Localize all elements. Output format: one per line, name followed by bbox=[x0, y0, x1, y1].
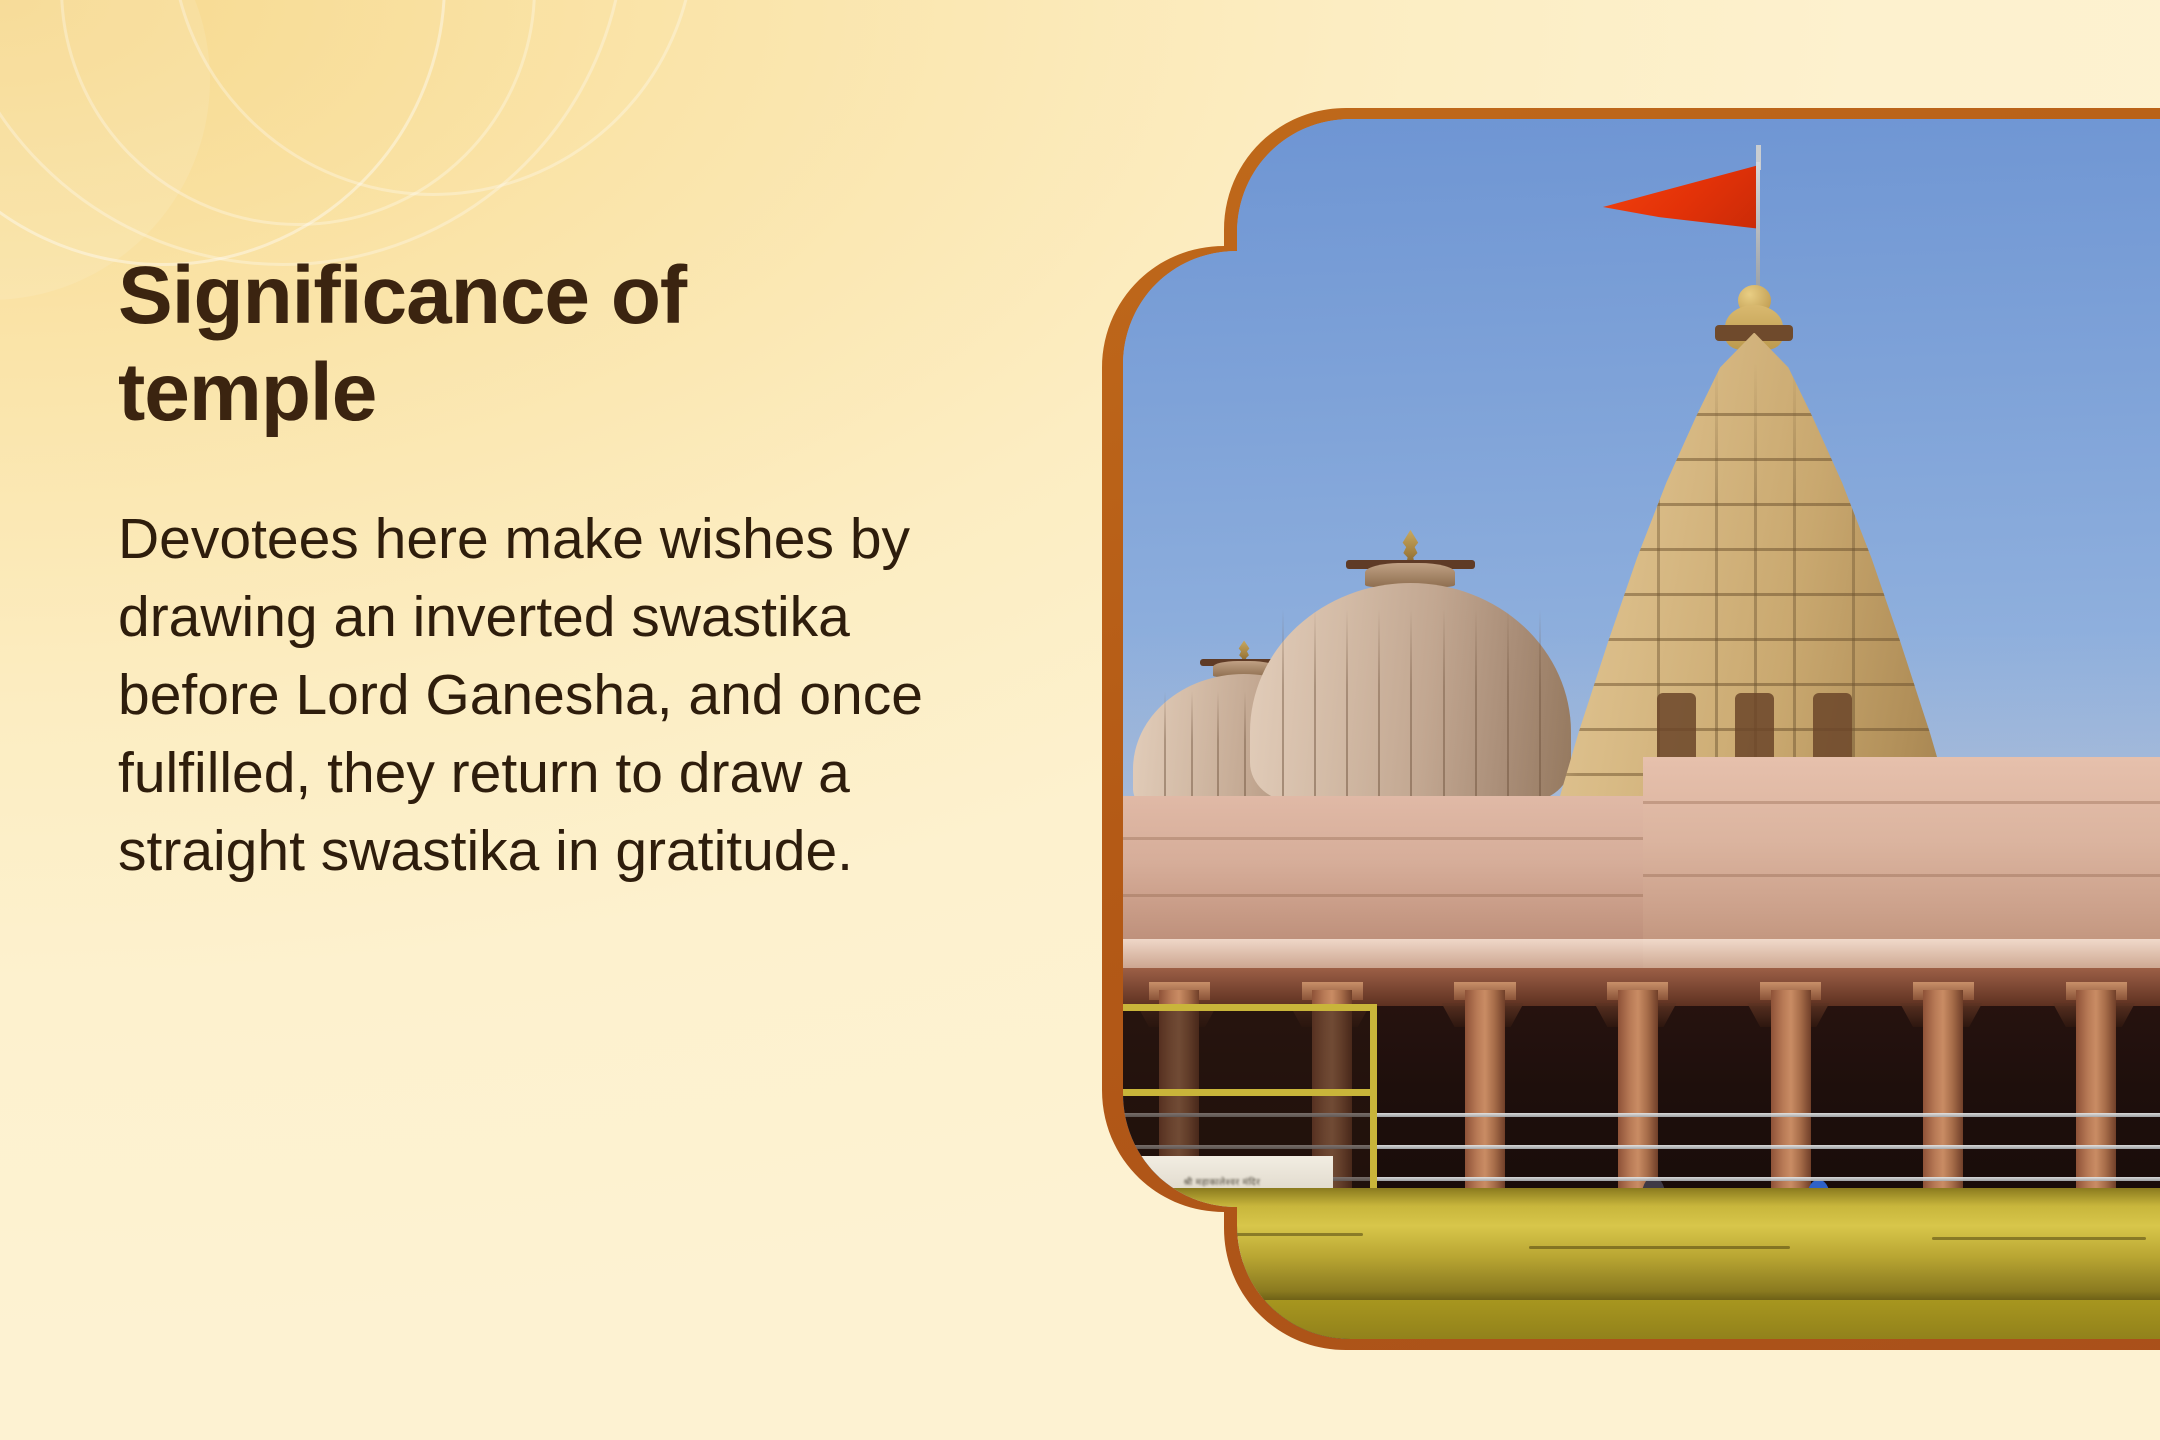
body-paragraph: Devotees here make wishes by drawing an … bbox=[118, 500, 958, 890]
text-column: Significance of temple Devotees here mak… bbox=[118, 248, 958, 890]
cornice-left bbox=[1111, 939, 1666, 971]
decorative-circle-outline bbox=[0, 0, 626, 266]
photo-frame-inner: श्री महाकालेश्वर मंदिर bbox=[1111, 119, 2160, 1339]
parapet-wall-right bbox=[1643, 757, 2160, 958]
decorative-circle-outline bbox=[170, 0, 696, 196]
page-title: Significance of temple bbox=[118, 248, 818, 442]
cornice-right bbox=[1643, 939, 2160, 971]
decorative-circle-outline bbox=[0, 0, 446, 266]
photo-frame: श्री महाकालेश्वर मंदिर bbox=[1100, 108, 2160, 1350]
scaffold-crossbar bbox=[1111, 1089, 1377, 1096]
parapet-wall-left bbox=[1111, 796, 1666, 955]
temple-photo: श्री महाकालेश्वर मंदिर bbox=[1111, 119, 2160, 1339]
slide-canvas: Significance of temple Devotees here mak… bbox=[0, 0, 2160, 1440]
decorative-circle-outline bbox=[60, 0, 536, 226]
signboard-text: श्री महाकालेश्वर मंदिर bbox=[1184, 1175, 1261, 1188]
flag-pole bbox=[1756, 162, 1760, 292]
yellow-pipe-barrier bbox=[1111, 1188, 2160, 1300]
